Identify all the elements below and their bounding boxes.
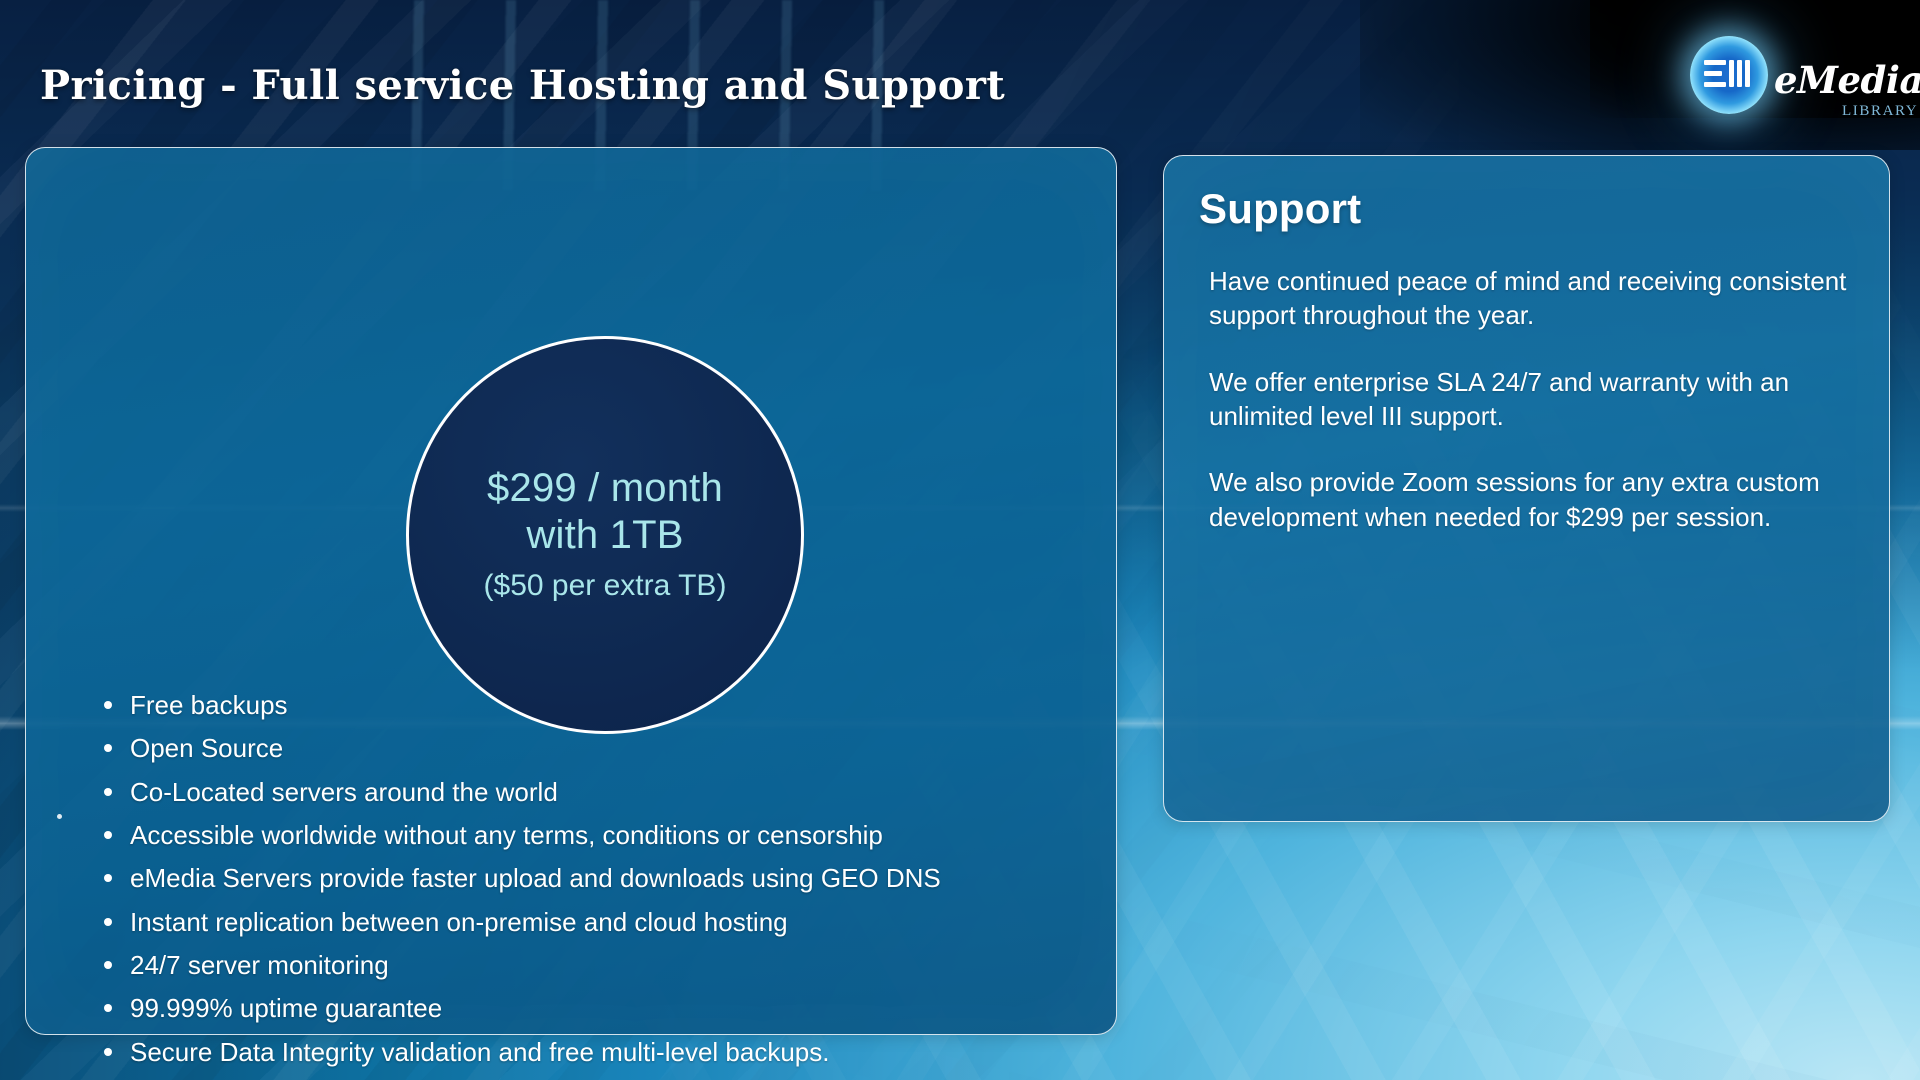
stray-dot-marker [57, 814, 62, 819]
support-body: Have continued peace of mind and receivi… [1209, 264, 1849, 534]
list-item: 99.999% uptime guarantee [98, 991, 1078, 1025]
slide-canvas: Pricing - Full service Hosting and Suppo… [0, 0, 1920, 1080]
price-amount-line2: with 1TB [526, 513, 683, 557]
list-item: Accessible worldwide without any terms, … [98, 818, 1078, 852]
support-paragraph: Have continued peace of mind and receivi… [1209, 264, 1849, 333]
logo-e-icon [1704, 60, 1726, 87]
support-paragraph: We also provide Zoom sessions for any ex… [1209, 465, 1849, 534]
price-amount: $299 / month with 1TB [487, 465, 723, 558]
list-item: Co-Located servers around the world [98, 775, 1078, 809]
support-paragraph: We offer enterprise SLA 24/7 and warrant… [1209, 365, 1849, 434]
list-item: Open Source [98, 731, 1078, 765]
list-item: Secure Data Integrity validation and fre… [98, 1035, 1078, 1069]
emedia-bars-icon [1704, 56, 1756, 90]
page-title: Pricing - Full service Hosting and Suppo… [40, 62, 1005, 109]
logo-wordmark: eMedia [1774, 58, 1920, 102]
logo-three-bars-icon [1729, 60, 1750, 87]
pricing-panel: $299 / month with 1TB ($50 per extra TB)… [25, 147, 1117, 1035]
list-item: Instant replication between on-premise a… [98, 905, 1078, 939]
list-item: eMedia Servers provide faster upload and… [98, 861, 1078, 895]
brand-logo: eMedia LIBRARY [1690, 30, 1910, 130]
price-amount-line1: $299 / month [487, 466, 723, 510]
list-item: Free backups [98, 688, 1078, 722]
list-item: 24/7 server monitoring [98, 948, 1078, 982]
price-extra-note: ($50 per extra TB) [484, 566, 727, 605]
logo-sublabel: LIBRARY [1842, 103, 1918, 120]
support-heading: Support [1199, 185, 1361, 233]
feature-list: Free backups Open Source Co-Located serv… [98, 688, 1078, 1078]
support-panel: Support Have continued peace of mind and… [1163, 155, 1890, 822]
price-badge: $299 / month with 1TB ($50 per extra TB) [406, 336, 804, 734]
